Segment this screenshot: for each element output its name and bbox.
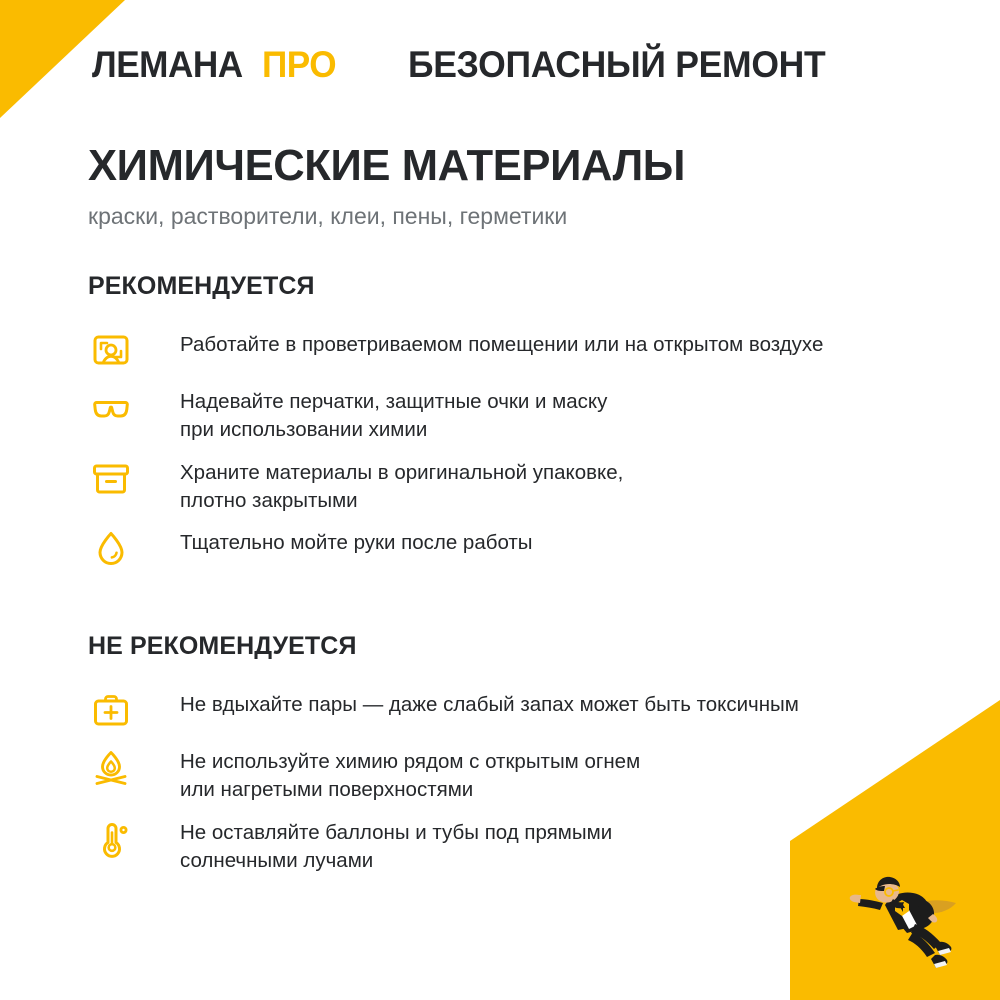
list-item-text: Работайте в проветриваемом помещении или…: [180, 326, 823, 359]
flying-superhero-mascot: [845, 862, 980, 977]
list-item: Тщательно мойте руки после работы: [88, 524, 918, 572]
list-item-text: Не оставляйте баллоны и тубы под прямыми…: [180, 814, 612, 876]
header-bar: ЛЕМАНА ПРО БЕЗОПАСНЫЙ РЕМОНТ: [92, 40, 843, 90]
poster-canvas: ЛЕМАНА ПРО БЕЗОПАСНЫЙ РЕМОНТ ХИМИЧЕСКИЕ …: [0, 0, 1000, 1000]
list-item-text: Не вдыхайте пары — даже слабый запах мож…: [180, 686, 799, 719]
page-subtitle: краски, растворители, клеи, пены, гермет…: [88, 204, 928, 229]
header-campaign-title: БЕЗОПАСНЫЙ РЕМОНТ: [408, 44, 825, 86]
thermometer-icon: [88, 816, 134, 862]
section-heading-not-recommended: НЕ РЕКОМЕНДУЕТСЯ: [88, 632, 357, 661]
brand-logo-main-text: ЛЕМАНА: [92, 44, 243, 86]
first-aid-kit-icon: [88, 688, 134, 734]
safety-goggles-icon: [88, 385, 134, 431]
list-item-text: Не используйте химию рядом с открытым ог…: [180, 743, 640, 805]
not-recommended-list: Не вдыхайте пары — даже слабый запах мож…: [88, 686, 918, 884]
list-item: Храните материалы в оригинальной упаковк…: [88, 454, 918, 516]
water-drop-icon: [88, 526, 134, 572]
list-item: Не оставляйте баллоны и тубы под прямыми…: [88, 814, 918, 876]
brand-logo: ЛЕМАНА ПРО: [92, 44, 340, 86]
page-title: ХИМИЧЕСКИЕ МАТЕРИАЛЫ: [88, 144, 920, 188]
title-block: ХИМИЧЕСКИЕ МАТЕРИАЛЫ краски, растворител…: [88, 144, 928, 229]
recommended-list: Работайте в проветриваемом помещении или…: [88, 326, 918, 581]
ventilated-room-icon: [88, 328, 134, 374]
list-item: Не вдыхайте пары — даже слабый запах мож…: [88, 686, 918, 734]
storage-box-icon: [88, 456, 134, 502]
brand-logo-accent-text: ПРО: [262, 44, 336, 86]
list-item-text: Надевайте перчатки, защитные очки и маск…: [180, 383, 607, 445]
list-item-text: Тщательно мойте руки после работы: [180, 524, 533, 557]
list-item: Не используйте химию рядом с открытым ог…: [88, 743, 918, 805]
section-heading-recommended: РЕКОМЕНДУЕТСЯ: [88, 272, 315, 301]
list-item-text: Храните материалы в оригинальной упаковк…: [180, 454, 623, 516]
list-item: Надевайте перчатки, защитные очки и маск…: [88, 383, 918, 445]
list-item: Работайте в проветриваемом помещении или…: [88, 326, 918, 374]
campfire-icon: [88, 745, 134, 791]
